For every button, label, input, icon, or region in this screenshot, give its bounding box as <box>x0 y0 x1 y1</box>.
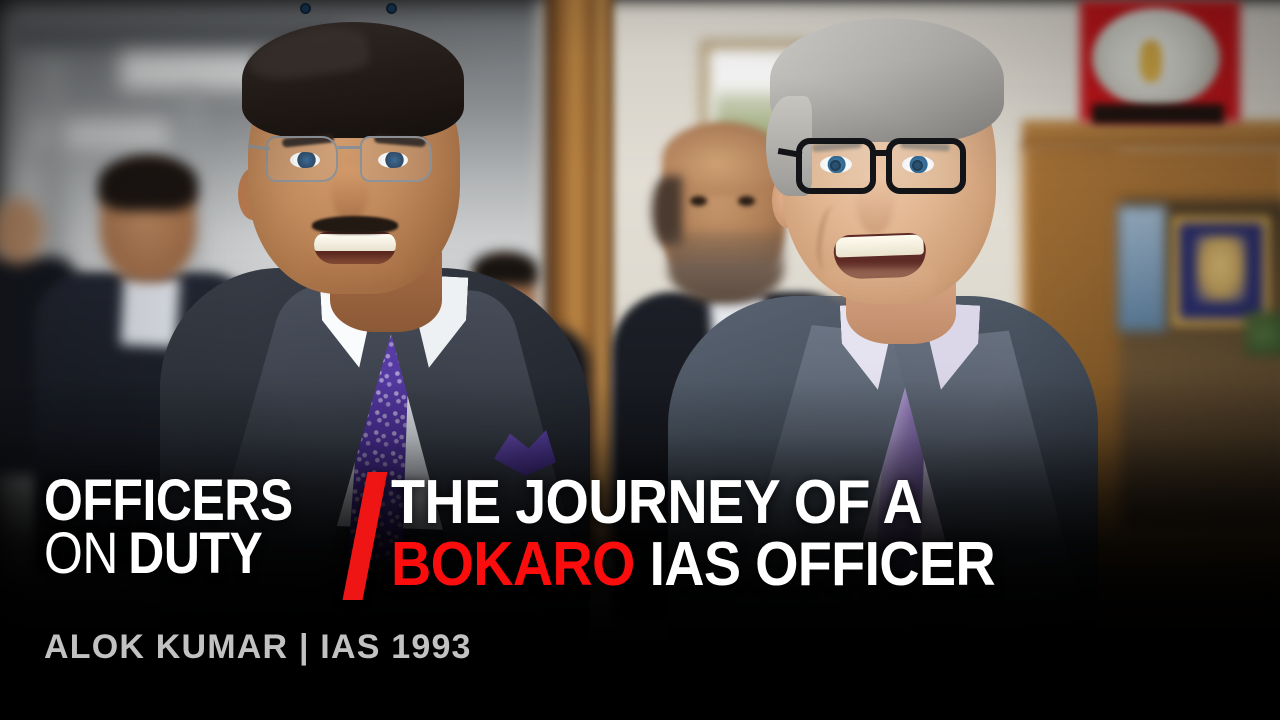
title-row: OFFICERS ON DUTY THE JOURNEY OF A BOKARO… <box>44 470 1062 600</box>
subject-left-chin <box>306 258 402 294</box>
display-cabinet-top <box>1022 120 1280 150</box>
subject-left-mustache <box>312 216 398 234</box>
series-title-on: ON <box>44 527 118 580</box>
series-title-line2: ON DUTY <box>44 527 293 580</box>
title-overlay: OFFICERS ON DUTY THE JOURNEY OF A BOKARO… <box>0 460 1280 720</box>
headline-line1: THE JOURNEY OF A <box>391 472 995 534</box>
subject-left-pupil-left <box>300 3 311 14</box>
slash-divider-icon <box>343 472 388 600</box>
background-person-left-hair <box>98 155 198 211</box>
certificate-seal <box>1196 236 1246 302</box>
headline-block: THE JOURNEY OF A BOKARO IAS OFFICER <box>391 470 1062 596</box>
subject-right-eyeglasses-bridge <box>872 150 890 156</box>
series-title-duty: DUTY <box>128 527 262 580</box>
subject-right-chin <box>826 268 934 308</box>
subject-left-teeth <box>314 234 396 251</box>
background-person-center-eye-left <box>690 196 707 206</box>
commemorative-plate-emblem <box>1140 40 1162 82</box>
subject-left-eyeglasses-lens-right <box>360 136 432 182</box>
series-title-line1: OFFICERS <box>44 474 293 527</box>
subject-left-pupil-right <box>386 3 397 14</box>
headline-line2: BOKARO IAS OFFICER <box>391 534 995 596</box>
background-person-center-eye-right <box>738 196 755 206</box>
subtitle-name-batch: ALOK KUMAR | IAS 1993 <box>44 628 472 667</box>
subject-right-teeth <box>835 234 924 257</box>
subject-left-eyeglasses-bridge <box>338 146 362 149</box>
background-person-center-beard <box>668 232 784 304</box>
series-title-block: OFFICERS ON DUTY <box>44 470 333 581</box>
video-thumbnail: OFFICERS ON DUTY THE JOURNEY OF A BOKARO… <box>0 0 1280 720</box>
cabinet-plant <box>1245 312 1280 356</box>
cabinet-document <box>1118 206 1166 331</box>
subject-right-eyeglasses-lens-left <box>796 138 876 194</box>
headline-line2-rest: IAS OFFICER <box>635 530 995 599</box>
headline-accent-bokaro: BOKARO <box>391 530 635 599</box>
subject-left-eyeglasses-lens-left <box>266 136 338 182</box>
subject-right-eyeglasses-lens-right <box>886 138 966 194</box>
award-stand <box>1092 104 1224 124</box>
